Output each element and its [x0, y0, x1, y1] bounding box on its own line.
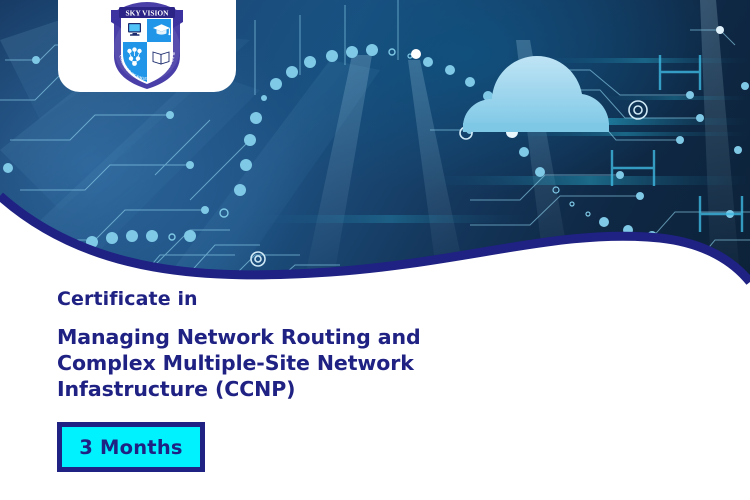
cloud-icon — [459, 55, 609, 132]
course-content: Certificate in Managing Network Routing … — [0, 288, 750, 402]
logo-banner-text: SKY VISION — [126, 9, 170, 18]
course-card: SKY VISION — [0, 0, 750, 500]
kicker-text: Certificate in — [57, 288, 750, 310]
logo-card: SKY VISION — [58, 0, 236, 92]
course-title: Managing Network Routing and Complex Mul… — [57, 324, 477, 402]
duration-badge[interactable]: 3 Months — [57, 422, 205, 472]
course-title-line-1: Managing Network Routing and — [57, 324, 477, 350]
sky-vision-logo: SKY VISION — [97, 0, 197, 90]
course-title-line-3: Infastructure (CCNP) — [57, 376, 477, 402]
course-title-line-2: Complex Multiple-Site Network — [57, 350, 477, 376]
duration-badge-label: 3 Months — [79, 436, 182, 459]
